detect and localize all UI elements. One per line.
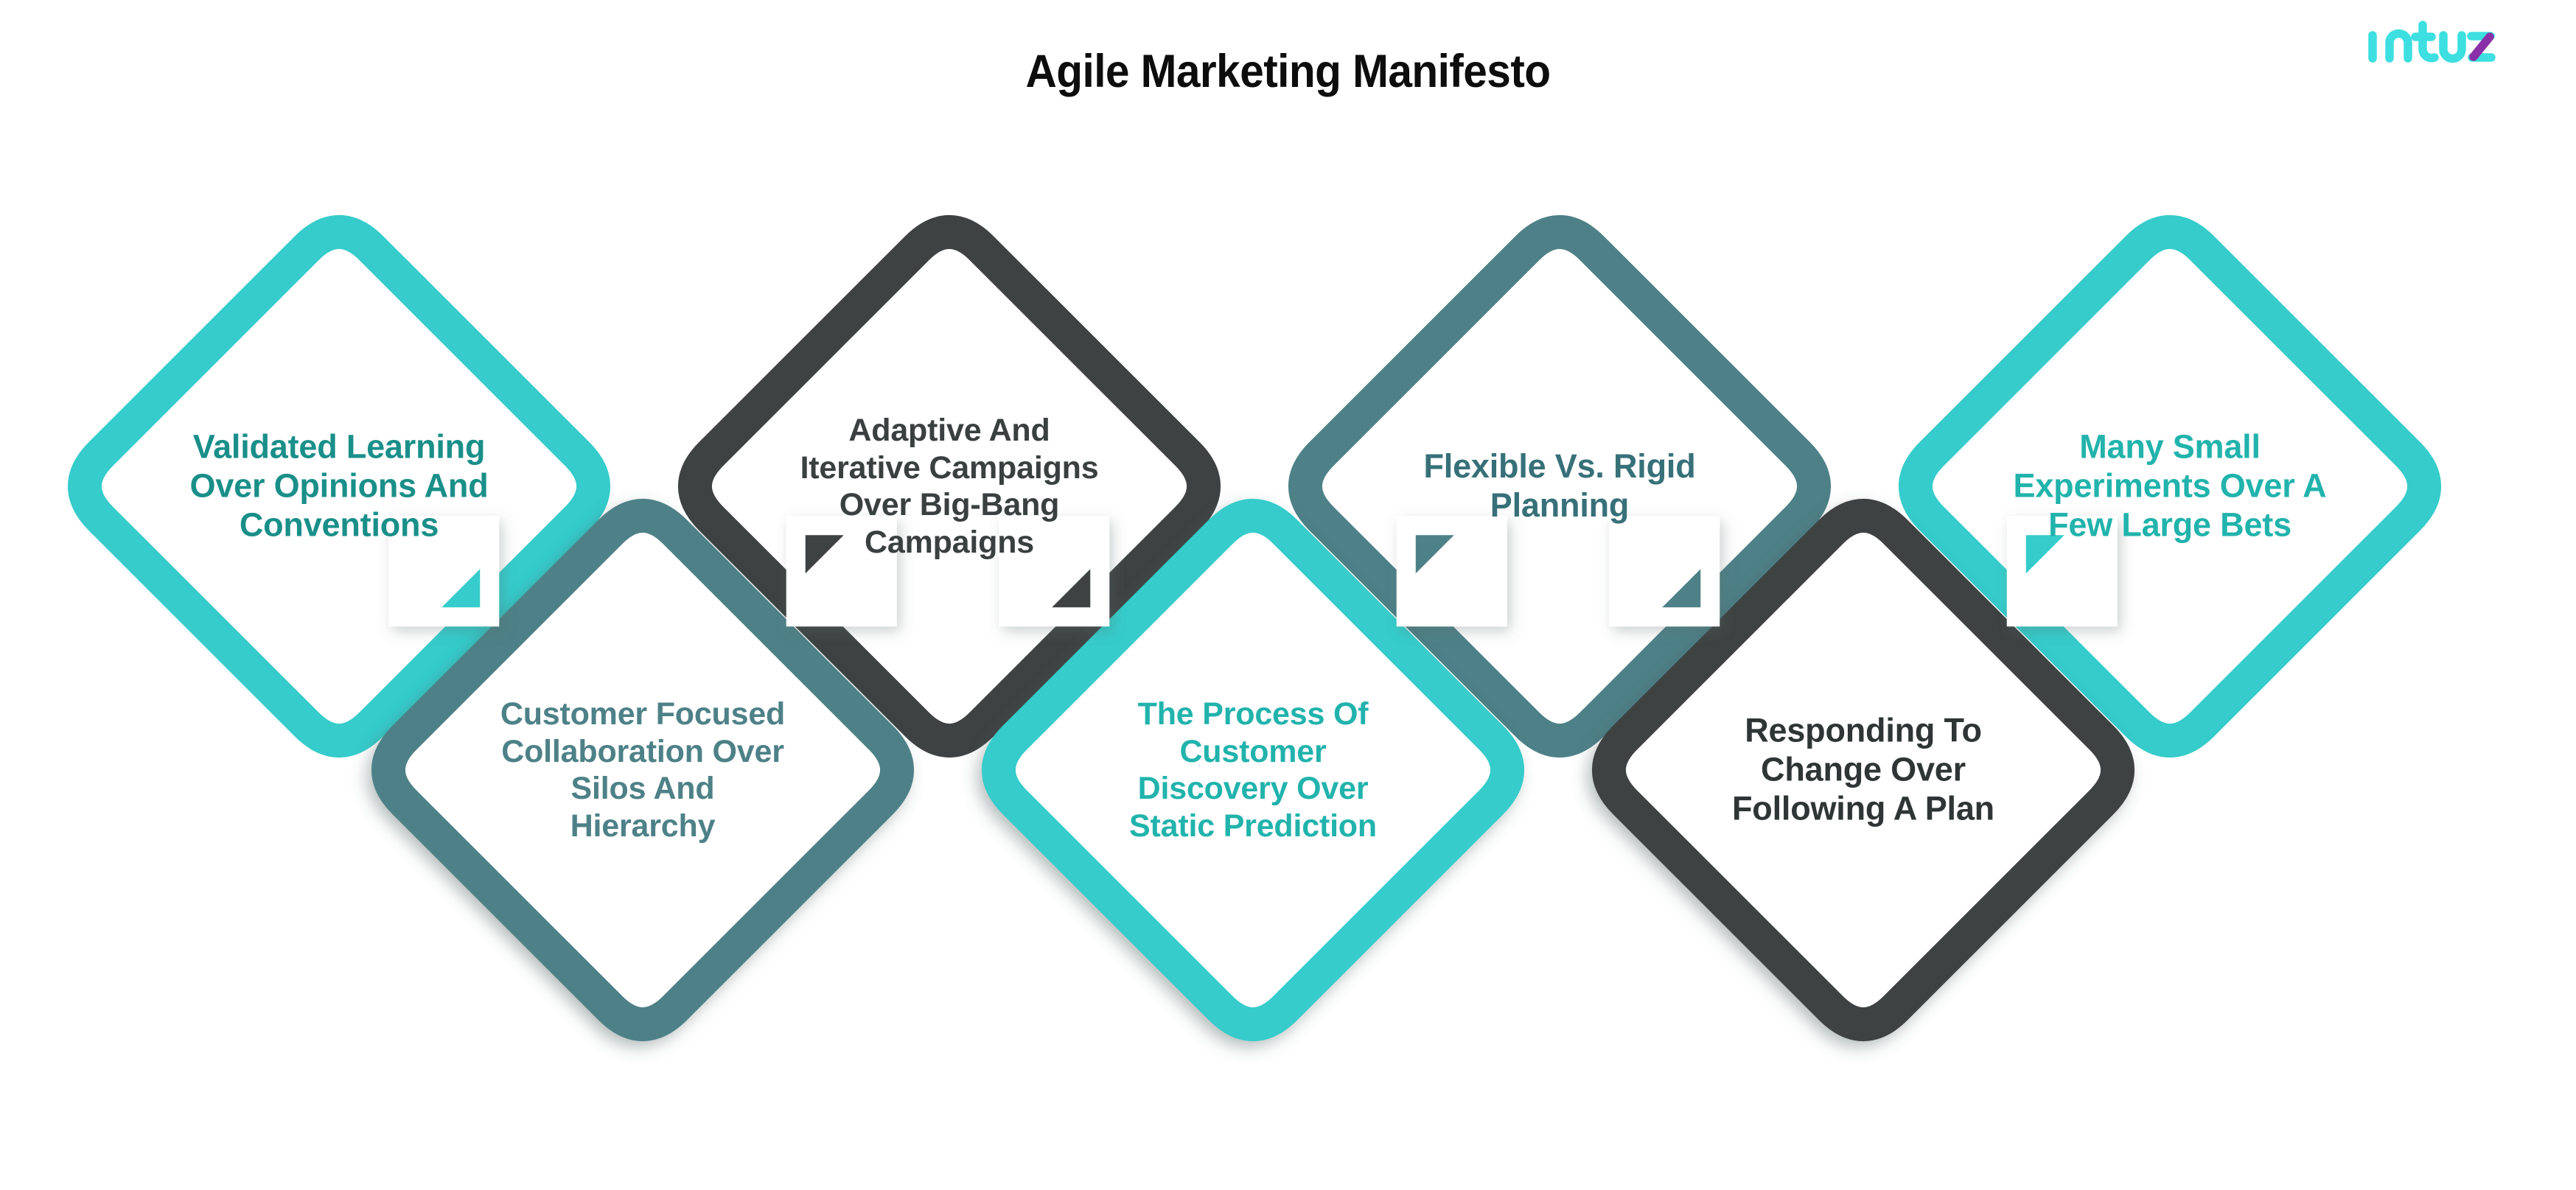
overlap-notch-4-left [999, 516, 1109, 626]
intuz-logo[interactable] [2367, 19, 2496, 65]
diagram-canvas [0, 0, 2576, 1190]
notch-card [2007, 516, 2118, 626]
notch-card [786, 516, 897, 626]
overlap-notch-2-right [786, 516, 897, 626]
notch-card [1609, 516, 1720, 626]
page-title: Agile Marketing Manifesto [90, 46, 2485, 97]
overlap-notch-6-right [2007, 516, 2118, 626]
manifesto-diagram [0, 0, 2576, 1190]
row2-diamond-layer [388, 516, 2118, 1024]
intuz-logo-mark [2367, 19, 2496, 65]
overlap-notch-4-right [1397, 516, 1507, 626]
notch-card [1397, 516, 1507, 626]
overlap-notch-2-left [388, 516, 499, 626]
overlap-notch-6-left [1609, 516, 1720, 626]
notch-card [999, 516, 1109, 626]
notch-card [388, 516, 499, 626]
